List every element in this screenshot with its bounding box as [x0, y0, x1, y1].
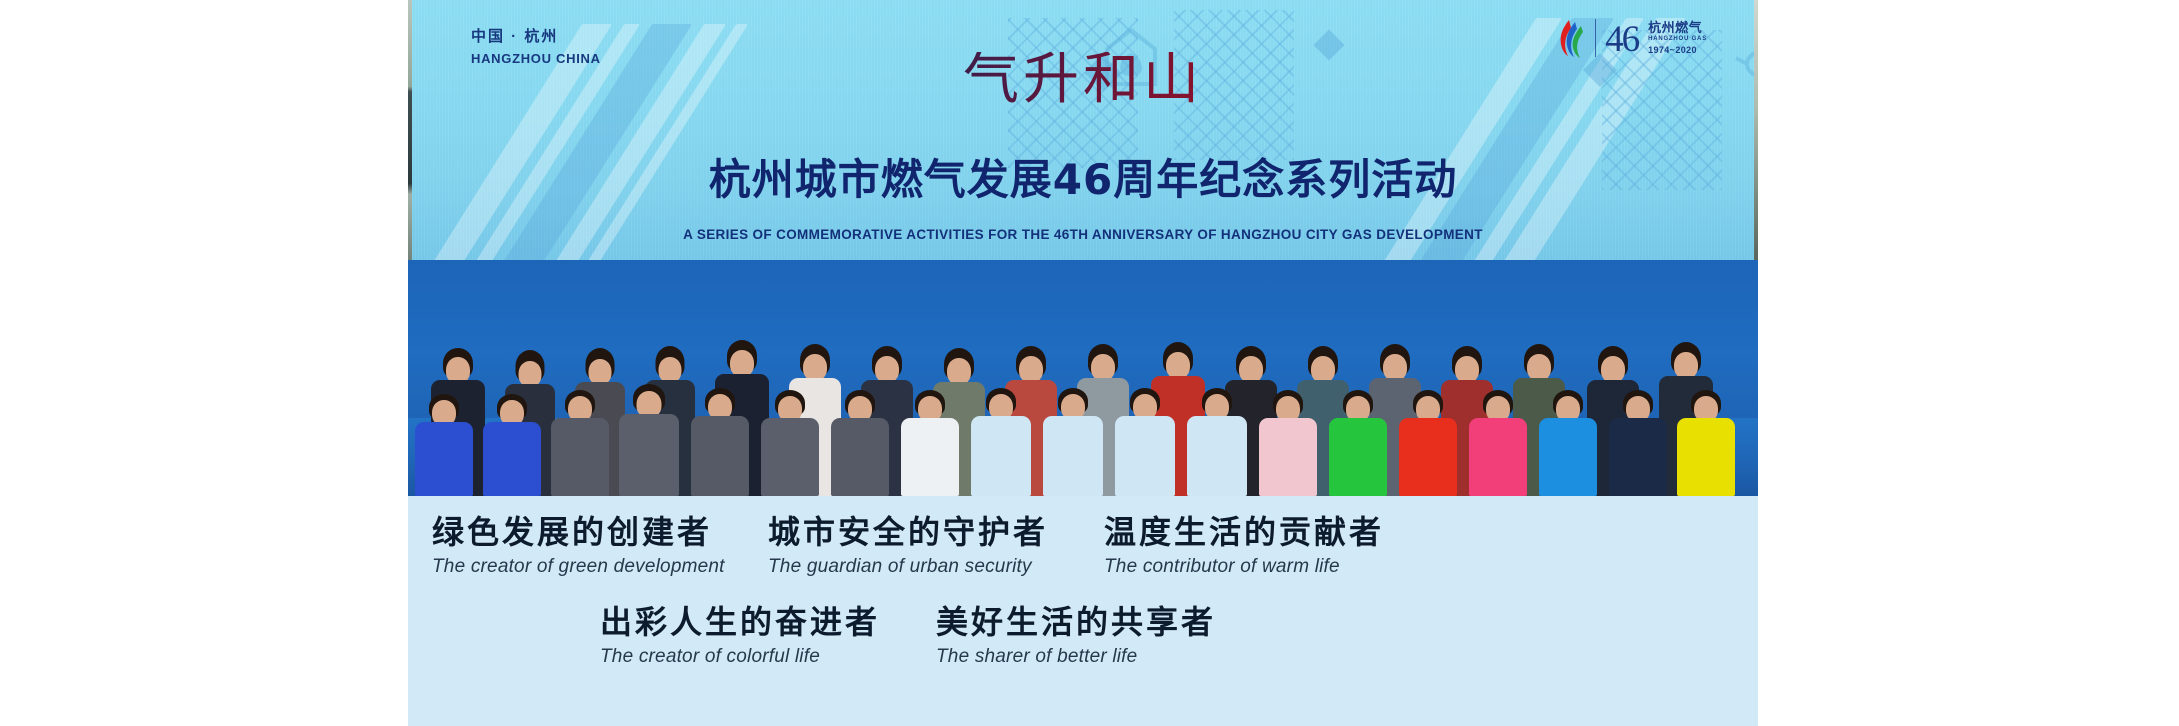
poster-page: 中国 · 杭州 HANGZHOU CHINA 46 杭州燃气 HANGZHOU … [0, 0, 2179, 726]
slogan-cn: 温度生活的贡献者 [1104, 516, 1384, 550]
headline-cn: 杭州城市燃气发展46周年纪念系列活动 [412, 159, 1754, 201]
person-figure [618, 386, 680, 496]
slogan-item: 出彩人生的奋进者 The creator of colorful life [600, 606, 880, 667]
slogan-en: The creator of colorful life [600, 647, 880, 668]
person-figure [970, 390, 1032, 496]
slogan-item: 城市安全的守护者 The guardian of urban security [768, 516, 1048, 577]
slogan-item: 温度生活的贡献者 The contributor of warm life [1104, 516, 1384, 577]
slogan-cn: 美好生活的共享者 [936, 606, 1216, 640]
event-photo: 中国 · 杭州 HANGZHOU CHINA 46 杭州燃气 HANGZHOU … [408, 0, 1758, 496]
person-figure [830, 392, 890, 496]
person-figure [482, 396, 542, 496]
headline-en: A SERIES OF COMMEMORATIVE ACTIVITIES FOR… [412, 227, 1754, 242]
person-figure [900, 392, 960, 496]
slogan-en: The guardian of urban security [768, 557, 1048, 578]
slogan-cn: 城市安全的守护者 [768, 516, 1048, 550]
slogan-item: 美好生活的共享者 The sharer of better life [936, 606, 1216, 667]
person-figure [1538, 392, 1598, 496]
locale-cn: 中国 · 杭州 [471, 26, 601, 47]
person-figure [1398, 392, 1458, 496]
brand-words: 杭州燃气 HANGZHOU GAS 1974~2020 [1647, 20, 1707, 55]
person-figure [1042, 390, 1104, 496]
event-wordmark: 气升和山 [412, 52, 1754, 108]
slogan-en: The contributor of warm life [1104, 557, 1384, 578]
brand-name-en: HANGZHOU GAS [1648, 36, 1707, 43]
person-figure [1328, 392, 1388, 496]
person-figure [760, 392, 820, 496]
slogan-cn: 出彩人生的奋进者 [600, 606, 880, 640]
person-figure [1114, 390, 1176, 496]
person-figure [1186, 390, 1248, 496]
content-block: 中国 · 杭州 HANGZHOU CHINA 46 杭州燃气 HANGZHOU … [408, 0, 1758, 726]
slogan-item: 绿色发展的创建者 The creator of green developmen… [432, 516, 725, 577]
person-figure [1608, 392, 1668, 496]
person-figure [1676, 392, 1736, 496]
person-figure [414, 396, 474, 496]
person-figure [1258, 392, 1318, 496]
slogan-en: The creator of green development [432, 557, 725, 578]
slogan-en: The sharer of better life [936, 647, 1216, 668]
brand-name-cn: 杭州燃气 [1648, 20, 1707, 35]
stage-crowd [408, 260, 1758, 496]
slogan-cn: 绿色发展的创建者 [432, 516, 725, 550]
person-figure [550, 392, 610, 496]
person-figure [690, 390, 750, 496]
led-backdrop: 中国 · 杭州 HANGZHOU CHINA 46 杭州燃气 HANGZHOU … [412, 0, 1754, 264]
slogans-panel: 绿色发展的创建者 The creator of green developmen… [408, 496, 1758, 726]
person-figure [1468, 392, 1528, 496]
